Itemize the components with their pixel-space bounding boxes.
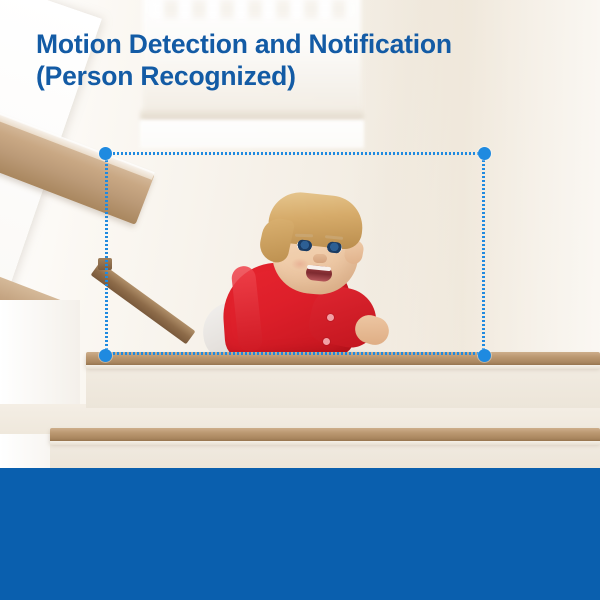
zone-handle-bottom-right[interactable] [478,349,491,362]
zone-handle-top-left[interactable] [99,147,112,160]
headline-line-2: (Person Recognized) [36,60,556,92]
stair-tread-upper-edge [86,365,600,369]
window-sill [140,110,364,120]
zone-edge-top [105,152,485,155]
headline: Motion Detection and Notification (Perso… [36,28,556,93]
footer-banner: Control what alerts you receive by creat… [0,468,600,600]
headline-line-1: Motion Detection and Notification [36,29,452,59]
stair-tread-lower-edge [50,441,600,445]
stair-tread-lower [50,428,600,442]
window-lower-panel [140,120,364,148]
zone-edge-left [105,152,108,355]
zone-edge-bottom [105,352,485,355]
activity-zone-box[interactable] [105,152,485,355]
zone-handle-bottom-left[interactable] [99,349,112,362]
window-glass [150,0,350,18]
zone-handle-top-right[interactable] [478,147,491,160]
zone-edge-right [482,152,485,355]
promo-card: Motion Detection and Notification (Perso… [0,0,600,600]
